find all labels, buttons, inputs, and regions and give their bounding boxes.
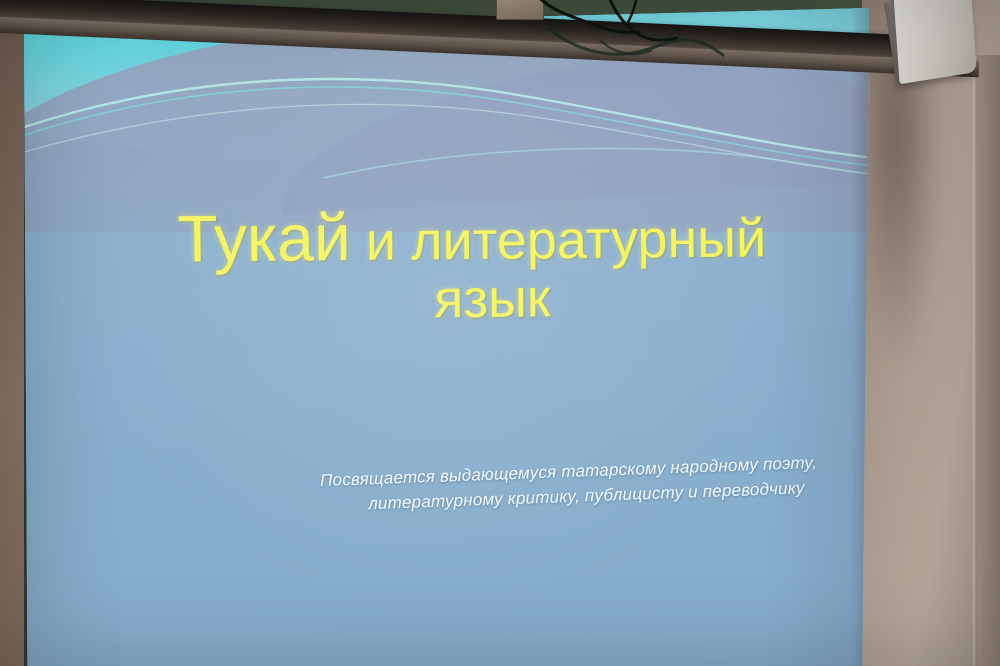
screen-vignette: [24, 8, 869, 666]
right-wall-shadow: [870, 40, 940, 370]
classroom-projection-photo: Тукай и литературный язык Посвящается вы…: [0, 0, 1000, 666]
cable-loop-icon: [540, 22, 730, 70]
projection-screen: Тукай и литературный язык Посвящается вы…: [24, 8, 869, 666]
far-right-wall: [977, 55, 1000, 666]
left-wall-strip: [0, 0, 24, 666]
wall-mounted-device: [893, 0, 976, 84]
